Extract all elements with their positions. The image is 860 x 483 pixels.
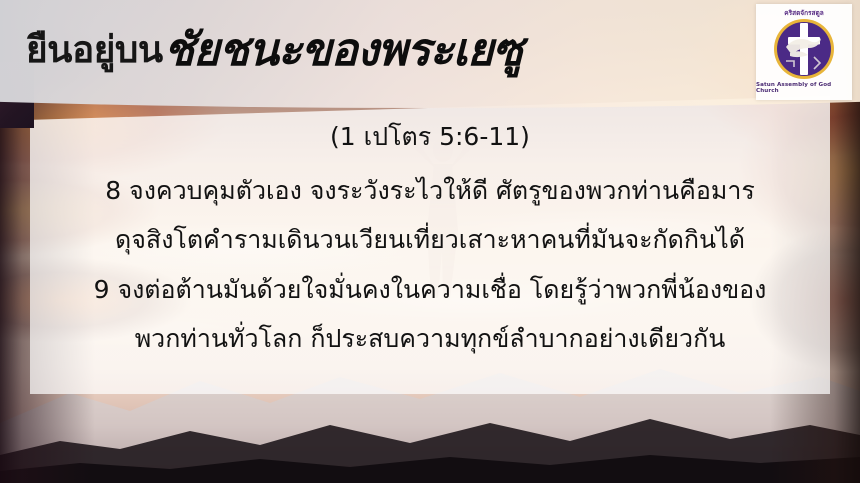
page-title: ยืนอยู่บน ชัยชนะของพระเยซู: [26, 16, 726, 82]
church-logo: คริสตจักรสตูล Satun Assembly of God Chur…: [756, 4, 852, 100]
worship-slide: ยืนอยู่บน ชัยชนะของพระเยซู คริสตจักรสตูล…: [0, 0, 860, 483]
scripture-block: (1 เปโตร 5:6-11) 8 จงควบคุมตัวเอง จงระวั…: [0, 122, 860, 364]
scripture-reference: (1 เปโตร 5:6-11): [0, 122, 860, 152]
title-bold-part: ชัยชนะของพระเยซู: [164, 27, 522, 72]
logo-thai-name: คริสตจักรสตูล: [784, 10, 823, 17]
scripture-line: 9 จงต่อต้านมันด้วยใจมั่นคงในความเชื่อ โด…: [0, 265, 860, 315]
scripture-line: พวกท่านทั่วโลก ก็ประสบความทุกข์ลำบากอย่า…: [0, 314, 860, 364]
scripture-line: ดุจสิงโตคำรามเดินวนเวียนเที่ยวเสาะหาคนที…: [0, 215, 860, 265]
logo-english-name: Satun Assembly of God Church: [756, 83, 852, 94]
title-light-part: ยืนอยู่บน: [26, 31, 163, 68]
scripture-line: 8 จงควบคุมตัวเอง จงระวังระไวให้ดี ศัตรูข…: [0, 166, 860, 216]
cross-dove-emblem: [772, 17, 836, 81]
